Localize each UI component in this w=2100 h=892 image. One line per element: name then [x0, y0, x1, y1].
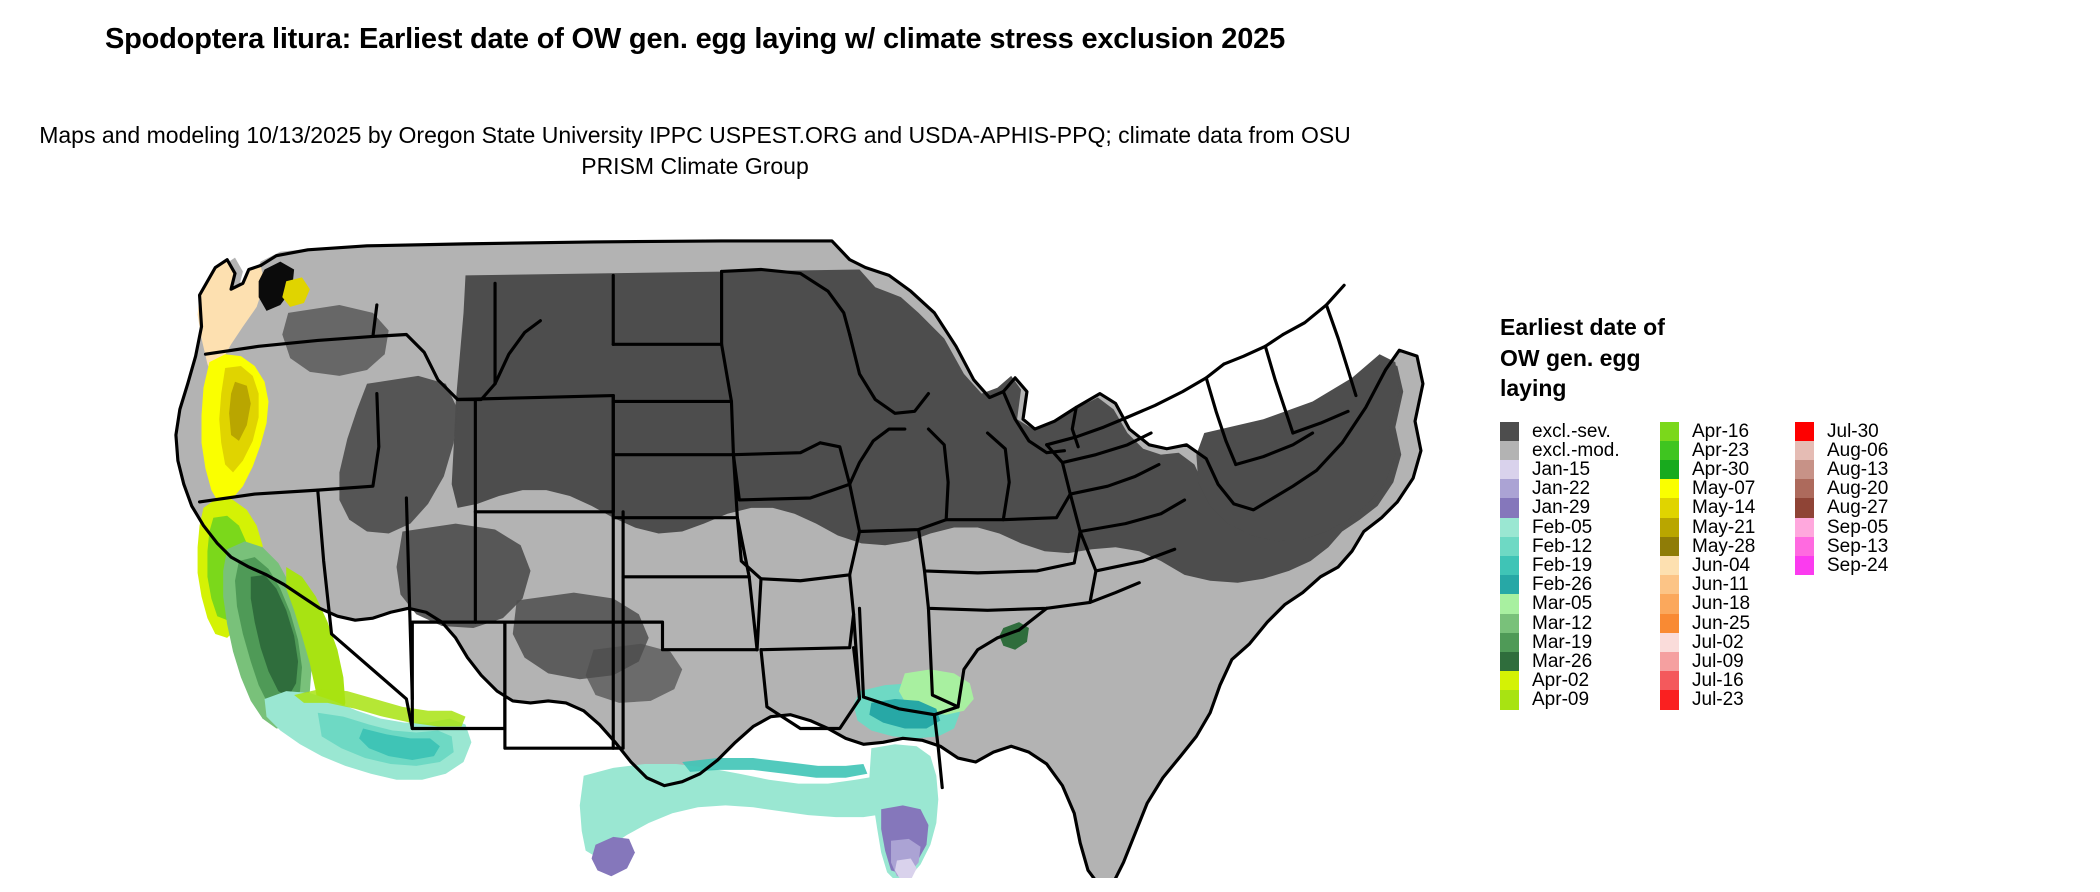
legend-item[interactable]: excl.-mod.	[1500, 441, 1660, 460]
legend-item[interactable]: Apr-16	[1660, 422, 1795, 441]
legend-label: Sep-05	[1814, 518, 1888, 537]
legend-swatch	[1660, 575, 1679, 594]
legend-label: Aug-13	[1814, 460, 1888, 479]
legend-item[interactable]: Aug-20	[1795, 479, 1945, 498]
legend-title: Earliest date of OW gen. egg laying	[1500, 312, 1705, 404]
legend-item[interactable]: Feb-19	[1500, 556, 1660, 575]
legend-label: excl.-mod.	[1519, 441, 1620, 460]
legend-label: Jul-16	[1679, 671, 1744, 690]
legend-swatch	[1500, 537, 1519, 556]
legend-item[interactable]: Sep-13	[1795, 537, 1945, 556]
us-map-svg	[150, 218, 1480, 878]
legend-label: Aug-20	[1814, 479, 1888, 498]
legend-label: May-28	[1679, 537, 1755, 556]
us-climate-map[interactable]	[150, 218, 1480, 878]
legend-swatch	[1795, 518, 1814, 537]
legend-swatch	[1500, 575, 1519, 594]
legend-swatch	[1660, 633, 1679, 652]
legend-swatch	[1660, 537, 1679, 556]
legend-swatch	[1660, 479, 1679, 498]
legend-item[interactable]: Mar-19	[1500, 633, 1660, 652]
legend-label: May-14	[1679, 498, 1755, 517]
legend-swatch	[1500, 652, 1519, 671]
map-page: Spodoptera litura: Earliest date of OW g…	[0, 0, 2100, 892]
legend-label: Aug-27	[1814, 498, 1888, 517]
legend-item[interactable]: Mar-26	[1500, 652, 1660, 671]
legend-swatch	[1500, 633, 1519, 652]
legend-swatch	[1500, 479, 1519, 498]
legend-label: Apr-02	[1519, 671, 1589, 690]
legend-label: Jan-22	[1519, 479, 1590, 498]
legend-item[interactable]: Jan-29	[1500, 498, 1660, 517]
legend-swatch	[1660, 690, 1679, 709]
legend-swatch	[1660, 556, 1679, 575]
legend-swatch	[1660, 422, 1679, 441]
legend-label: Jan-15	[1519, 460, 1590, 479]
legend-swatch	[1795, 479, 1814, 498]
legend-item[interactable]: Feb-12	[1500, 537, 1660, 556]
legend-item[interactable]: Jul-30	[1795, 422, 1945, 441]
legend-item[interactable]: Aug-27	[1795, 498, 1945, 517]
legend-column-3: Jul-30Aug-06Aug-13Aug-20Aug-27Sep-05Sep-…	[1795, 422, 1945, 710]
legend-label: Jan-29	[1519, 498, 1590, 517]
legend-item[interactable]: Jul-16	[1660, 671, 1795, 690]
legend-item[interactable]: Feb-05	[1500, 518, 1660, 537]
legend-item[interactable]: Sep-05	[1795, 518, 1945, 537]
legend-label: Jun-04	[1679, 556, 1750, 575]
legend-swatch	[1500, 671, 1519, 690]
legend-label: Apr-30	[1679, 460, 1749, 479]
legend-item[interactable]: Jun-18	[1660, 594, 1795, 613]
legend-label: Jun-18	[1679, 594, 1750, 613]
legend-label: May-07	[1679, 479, 1755, 498]
legend-label: Sep-24	[1814, 556, 1888, 575]
legend-label: Jul-30	[1814, 422, 1879, 441]
legend-swatch	[1660, 518, 1679, 537]
legend-item[interactable]: Aug-06	[1795, 441, 1945, 460]
legend-column-2: Apr-16Apr-23Apr-30May-07May-14May-21May-…	[1660, 422, 1795, 710]
legend-item[interactable]: Jul-02	[1660, 633, 1795, 652]
legend-swatch	[1795, 422, 1814, 441]
legend-swatch	[1795, 556, 1814, 575]
legend-label: Feb-26	[1519, 575, 1592, 594]
legend-columns: excl.-sev.excl.-mod.Jan-15Jan-22Jan-29Fe…	[1500, 422, 2080, 710]
legend-swatch	[1795, 537, 1814, 556]
legend-item[interactable]: May-28	[1660, 537, 1795, 556]
legend-swatch	[1660, 460, 1679, 479]
legend-item[interactable]: May-07	[1660, 479, 1795, 498]
legend-item[interactable]: Mar-12	[1500, 614, 1660, 633]
legend-item[interactable]: Aug-13	[1795, 460, 1945, 479]
legend-swatch	[1660, 594, 1679, 613]
legend-swatch	[1795, 441, 1814, 460]
legend-label: Mar-26	[1519, 652, 1592, 671]
legend-label: Jul-23	[1679, 690, 1744, 709]
legend-item[interactable]: May-14	[1660, 498, 1795, 517]
legend-swatch	[1500, 556, 1519, 575]
legend-label: Feb-05	[1519, 518, 1592, 537]
legend-swatch	[1660, 614, 1679, 633]
legend-item[interactable]: Jul-23	[1660, 690, 1795, 709]
legend-label: Mar-05	[1519, 594, 1592, 613]
legend-swatch	[1660, 652, 1679, 671]
legend-item[interactable]: Sep-24	[1795, 556, 1945, 575]
legend-item[interactable]: Apr-30	[1660, 460, 1795, 479]
legend-swatch	[1660, 441, 1679, 460]
legend-swatch	[1500, 460, 1519, 479]
legend-swatch	[1500, 518, 1519, 537]
legend-label: Aug-06	[1814, 441, 1888, 460]
legend-swatch	[1660, 498, 1679, 517]
legend-item[interactable]: May-21	[1660, 518, 1795, 537]
legend-label: Mar-19	[1519, 633, 1592, 652]
legend-swatch	[1795, 498, 1814, 517]
legend-item[interactable]: Jan-22	[1500, 479, 1660, 498]
legend-column-1: excl.-sev.excl.-mod.Jan-15Jan-22Jan-29Fe…	[1500, 422, 1660, 710]
legend-swatch	[1500, 498, 1519, 517]
legend-label: Sep-13	[1814, 537, 1888, 556]
legend-label: Feb-12	[1519, 537, 1592, 556]
legend-label: Jul-02	[1679, 633, 1744, 652]
legend-swatch	[1500, 422, 1519, 441]
legend-item[interactable]: Jun-11	[1660, 575, 1795, 594]
legend-swatch	[1660, 671, 1679, 690]
legend-swatch	[1795, 460, 1814, 479]
legend-item[interactable]: excl.-sev.	[1500, 422, 1660, 441]
legend-item[interactable]: Jun-25	[1660, 614, 1795, 633]
legend-label: Jun-25	[1679, 614, 1750, 633]
legend-item[interactable]: Apr-02	[1500, 671, 1660, 690]
legend-item[interactable]: Jun-04	[1660, 556, 1795, 575]
legend-item[interactable]: Apr-09	[1500, 690, 1660, 709]
legend-label: Apr-09	[1519, 690, 1589, 709]
legend-swatch	[1500, 690, 1519, 709]
legend-swatch	[1500, 441, 1519, 460]
page-subtitle: Maps and modeling 10/13/2025 by Oregon S…	[0, 120, 1390, 182]
legend-label: excl.-sev.	[1519, 422, 1611, 441]
legend-item[interactable]: Feb-26	[1500, 575, 1660, 594]
legend-label: Feb-19	[1519, 556, 1592, 575]
legend-swatch	[1500, 614, 1519, 633]
legend-item[interactable]: Jul-09	[1660, 652, 1795, 671]
legend-label: Apr-16	[1679, 422, 1749, 441]
legend-label: Apr-23	[1679, 441, 1749, 460]
legend-label: May-21	[1679, 518, 1755, 537]
legend-label: Jun-11	[1679, 575, 1749, 594]
legend-item[interactable]: Apr-23	[1660, 441, 1795, 460]
map-legend: Earliest date of OW gen. egg laying excl…	[1500, 312, 2080, 710]
legend-swatch	[1500, 594, 1519, 613]
legend-label: Jul-09	[1679, 652, 1744, 671]
legend-label: Mar-12	[1519, 614, 1592, 633]
page-title: Spodoptera litura: Earliest date of OW g…	[0, 20, 1390, 58]
legend-item[interactable]: Mar-05	[1500, 594, 1660, 613]
legend-item[interactable]: Jan-15	[1500, 460, 1660, 479]
